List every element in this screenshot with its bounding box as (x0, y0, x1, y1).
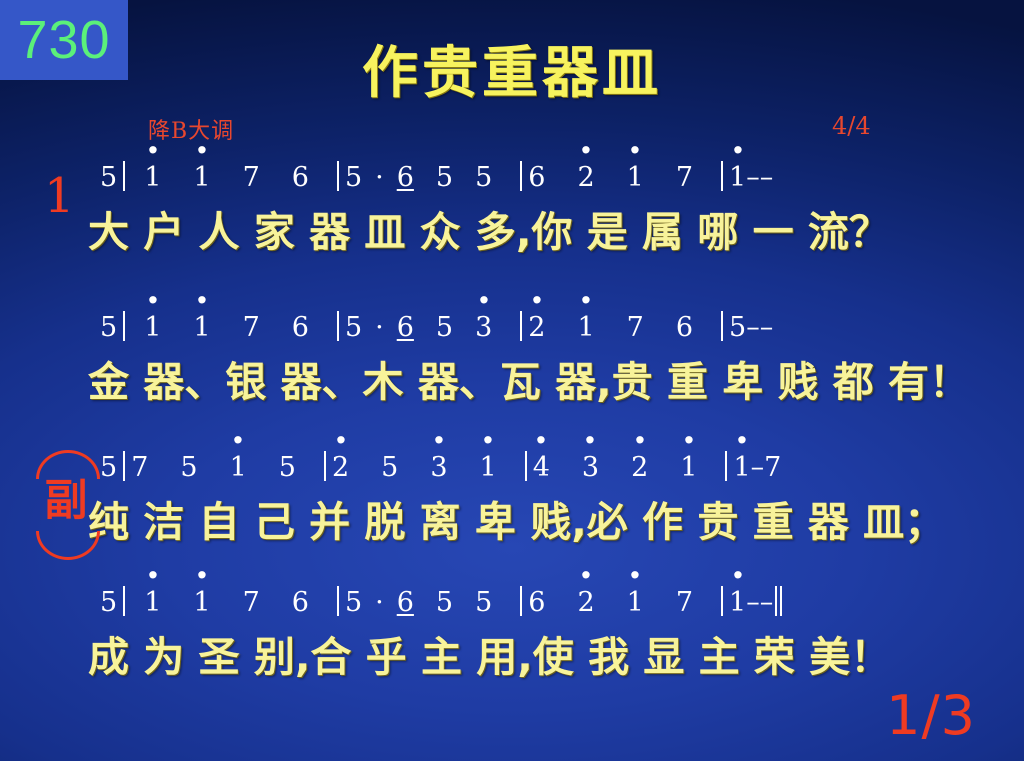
time-signature: 4/4 (832, 112, 871, 140)
lyrics-line: 纯 洁 自 己 并 脱 离 卑 贱,必 作 贵 重 器 皿； (0, 488, 1024, 548)
paren-bottom-decoration (36, 531, 100, 560)
lyrics-line: 大 户 人 家 器 皿 众 多,你 是 属 哪 一 流？ (0, 198, 1024, 258)
notation-line: 511765·65321765–– (0, 308, 1024, 348)
chorus-marker: 副 (30, 450, 102, 560)
lyrics-line: 金 器、银 器、木 器、瓦 器,贵 重 卑 贱 都 有！ (0, 348, 1024, 408)
hymn-slide: 730 作贵重器皿 降B大调 4/4 1 511765·65562171–– 大… (0, 0, 1024, 761)
notation-line: 57515253143211–7 (0, 448, 1024, 488)
chorus-marker-label: 副 (30, 478, 102, 525)
verse-number: 1 (44, 168, 75, 224)
stanza-chorus-1: 57515253143211–7 纯 洁 自 己 并 脱 离 卑 贱,必 作 贵… (0, 448, 1024, 548)
stanza-chorus-2: 511765·65562171–– 成 为 圣 别,合 乎 主 用,使 我 显 … (0, 583, 1024, 683)
stanza-verse-2: 511765·65321765–– 金 器、银 器、木 器、瓦 器,贵 重 卑 … (0, 308, 1024, 408)
lyrics-line: 成 为 圣 别,合 乎 主 用,使 我 显 主 荣 美！ (0, 623, 1024, 683)
page-title: 作贵重器皿 (0, 28, 1024, 109)
notation-line: 511765·65562171–– (0, 583, 1024, 623)
page-indicator: 1/3 (886, 684, 976, 747)
double-barline (775, 583, 785, 623)
stanza-verse-1: 1 511765·65562171–– 大 户 人 家 器 皿 众 多,你 是 … (0, 158, 1024, 258)
notation-line: 511765·65562171–– (0, 158, 1024, 198)
paren-top-decoration (36, 450, 100, 479)
